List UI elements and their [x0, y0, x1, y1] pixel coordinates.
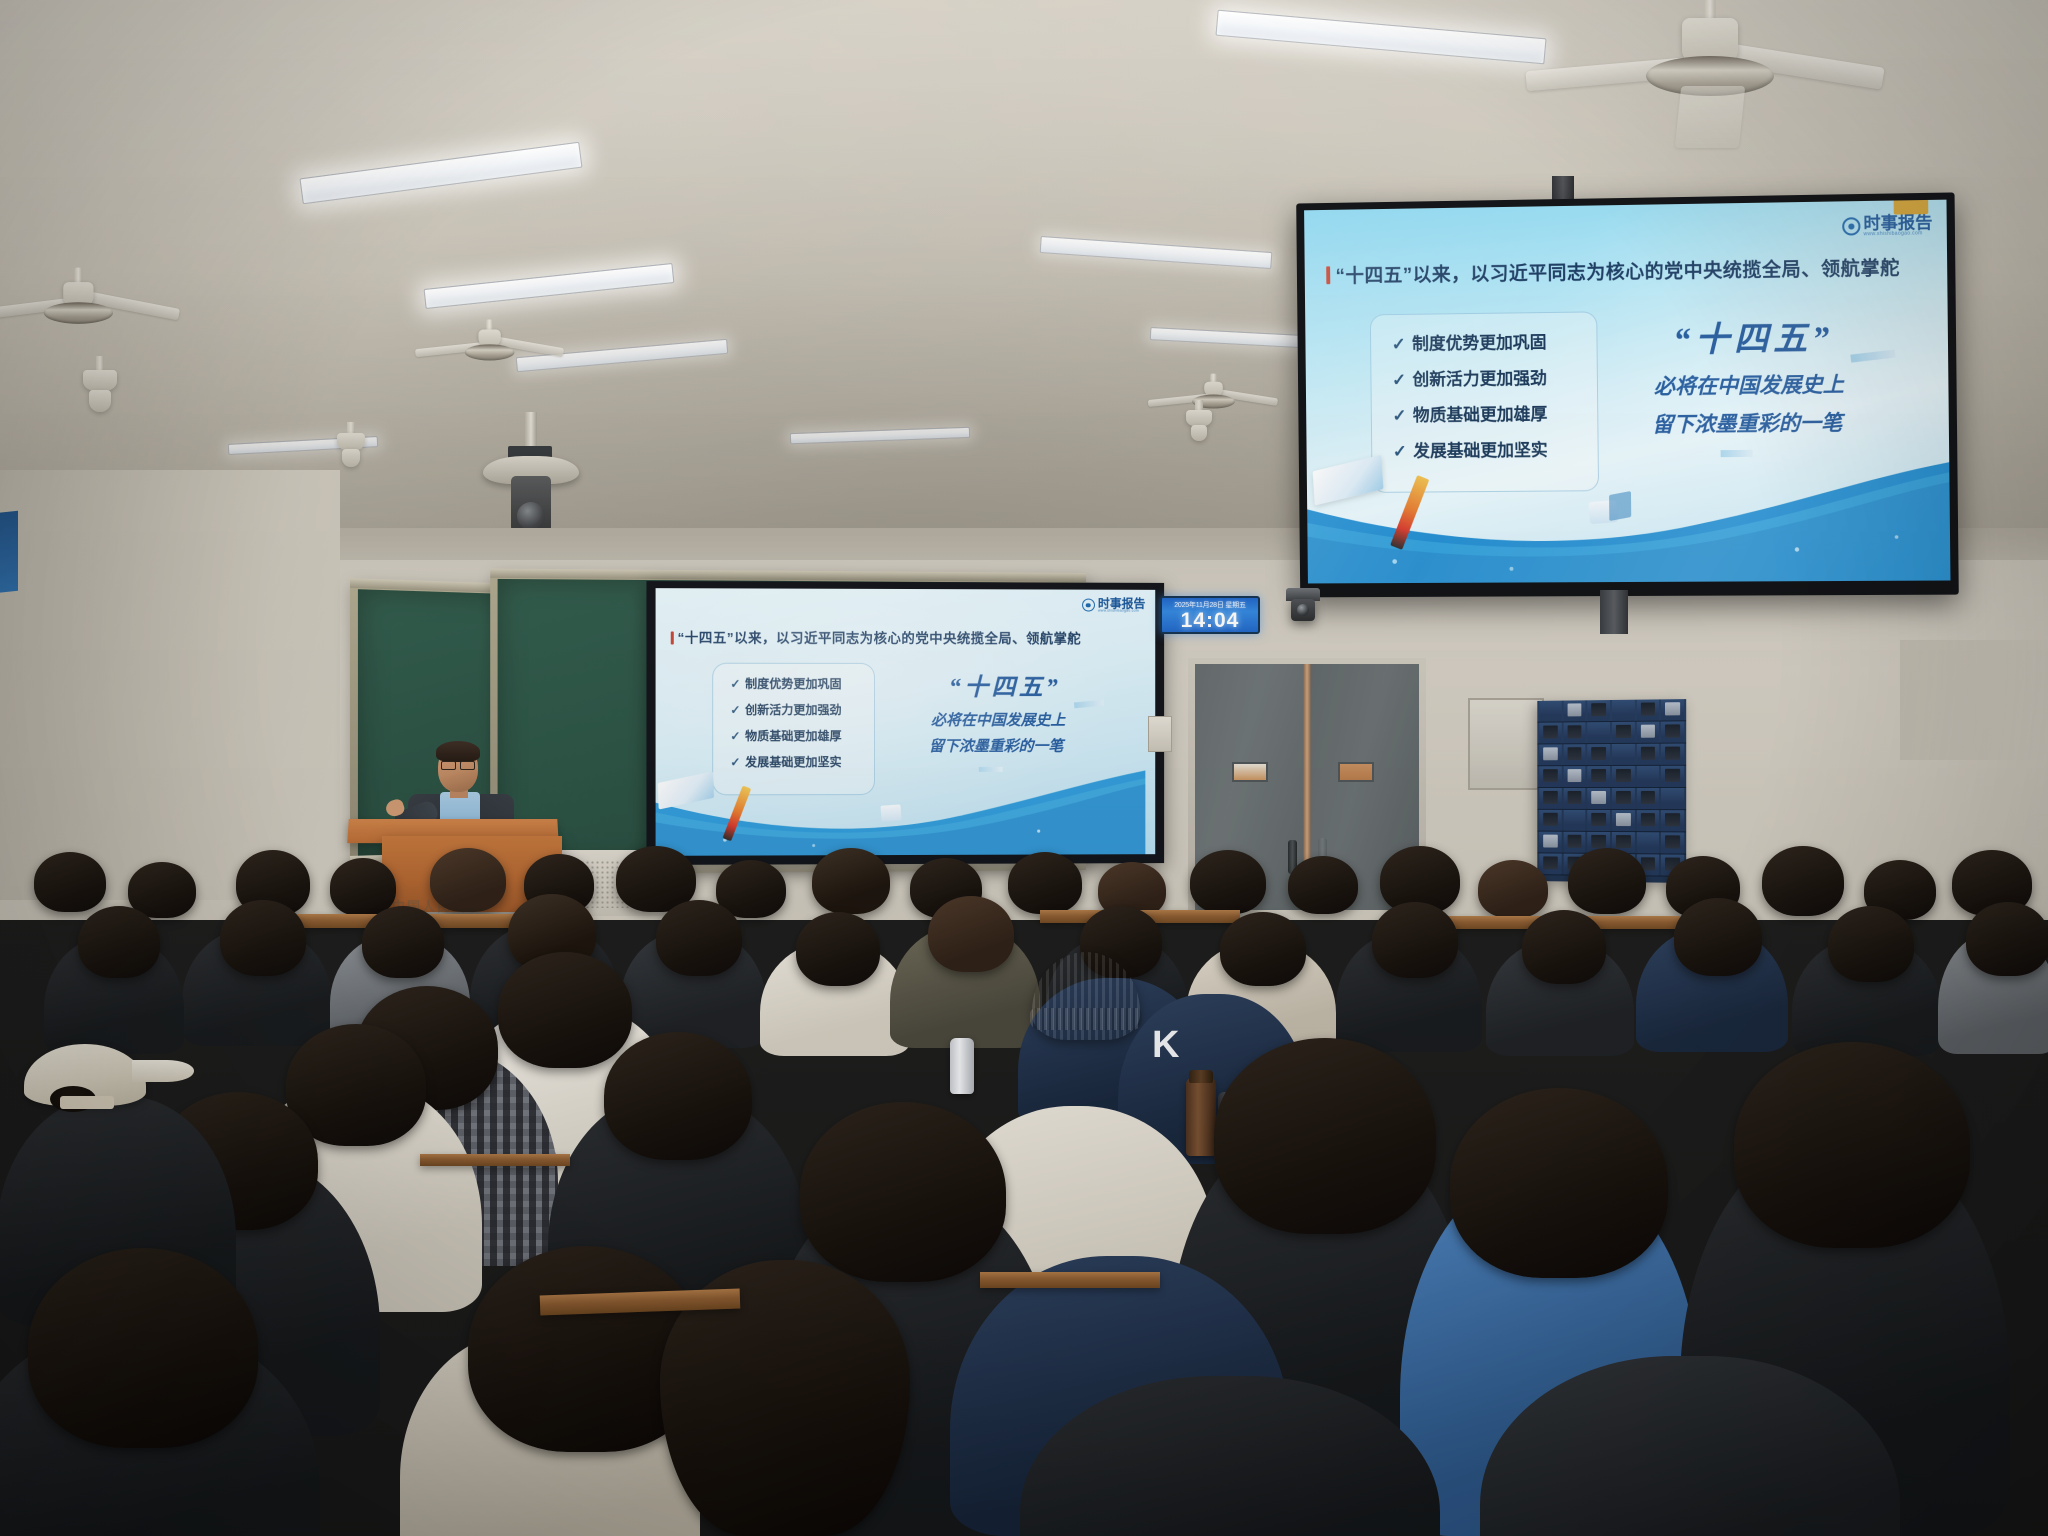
wall-vent-panel	[1900, 640, 2048, 760]
student-head	[1966, 902, 2048, 976]
student-head-large	[1450, 1088, 1668, 1278]
bullet-text: 创新活力更加强劲	[745, 703, 842, 717]
rack-row	[1537, 699, 1686, 723]
logo-flag-icon	[1894, 200, 1929, 215]
rack-pocket[interactable]	[1637, 832, 1660, 853]
rack-pocket[interactable]	[1539, 722, 1561, 743]
beanie-cuff	[1030, 1008, 1142, 1030]
rack-row	[1537, 788, 1686, 810]
slide-logo: 时事报告 www.shishibaogao.com	[1842, 214, 1933, 238]
rack-row	[1537, 721, 1686, 744]
student-head-large	[1734, 1042, 1970, 1248]
water-bottle	[950, 1038, 974, 1094]
bullet-text: 制度优势更加巩固	[745, 677, 842, 691]
projector-calligraphy-title: “十四五”	[949, 667, 1061, 702]
student-head	[604, 1032, 752, 1160]
student-head	[430, 848, 506, 912]
logo-eye-icon	[1082, 599, 1095, 612]
student-head	[220, 900, 306, 976]
rack-pocket[interactable]	[1612, 744, 1635, 765]
tv-calligraphy-line2: 留下浓墨重彩的一笔	[1652, 407, 1842, 439]
rack-pocket[interactable]	[1661, 832, 1684, 853]
rack-row	[1537, 810, 1686, 833]
rack-pocket[interactable]	[1637, 722, 1660, 743]
student-head	[78, 906, 160, 978]
rack-pocket[interactable]	[1539, 788, 1561, 809]
check-icon: ✓	[730, 729, 740, 743]
projector-bullet-item: ✓制度优势更加巩固	[730, 675, 841, 692]
bullet-text: 创新活力更加强劲	[1412, 369, 1547, 389]
tv-bullet-item: ✓物质基础更加雄厚	[1392, 400, 1547, 426]
rack-pocket[interactable]	[1588, 744, 1610, 765]
projection-screen-surface[interactable]: 时事报告 www.shishibaogao.com “十四五”以来，以习近平同志…	[656, 588, 1156, 856]
tv-bullet-item: ✓创新活力更加强劲	[1392, 364, 1547, 391]
rack-pocket[interactable]	[1637, 699, 1660, 720]
rack-pocket[interactable]	[1637, 744, 1660, 765]
jersey-letter-k: K	[1152, 1024, 1181, 1067]
rack-pocket[interactable]	[1588, 722, 1610, 743]
cap-adjuster-strap	[60, 1096, 114, 1109]
rack-pocket[interactable]	[1563, 700, 1585, 721]
cap-brim	[132, 1060, 194, 1082]
tv-calligraphy-line1: 必将在中国发展史上	[1654, 369, 1844, 401]
wall-whiteboard	[1468, 698, 1544, 790]
check-icon: ✓	[1392, 335, 1406, 354]
student-head	[1568, 848, 1646, 914]
rack-pocket[interactable]	[1637, 810, 1660, 831]
clock-date: 2025年11月28日 星期五	[1174, 600, 1246, 610]
student-head	[330, 858, 396, 916]
thermos-bottle	[1186, 1078, 1216, 1156]
rack-pocket[interactable]	[1612, 810, 1635, 831]
student-head-large	[800, 1102, 1006, 1282]
tv-calligraphy-title: “十四五”	[1673, 310, 1834, 361]
student-head	[1008, 852, 1082, 914]
logo-eye-icon	[1842, 217, 1860, 235]
tv-bullet-item: ✓制度优势更加巩固	[1392, 328, 1547, 355]
projector-calligraphy-line2: 留下浓墨重彩的一笔	[929, 735, 1063, 756]
digital-wall-clock: 2025年11月28日 星期五 14:04	[1160, 596, 1260, 634]
rack-pocket[interactable]	[1539, 810, 1561, 831]
ptz-camera	[1286, 588, 1320, 630]
student-head	[1288, 856, 1358, 914]
rack-pocket[interactable]	[1588, 700, 1610, 721]
student-head	[656, 900, 742, 976]
rack-pocket[interactable]	[1637, 788, 1660, 809]
student-head	[812, 848, 890, 914]
bullet-text: 物质基础更加雄厚	[1413, 405, 1548, 425]
bench-desk-front	[980, 1272, 1160, 1288]
student-head	[498, 952, 632, 1068]
thermos-cap	[1189, 1070, 1213, 1083]
audience: K ATE	[0, 856, 2048, 1536]
rack-pocket[interactable]	[1563, 766, 1585, 787]
projector-slide-headline: “十四五”以来，以习近平同志为核心的党中央统揽全局、领航掌舵	[671, 626, 1081, 647]
student-head	[796, 912, 880, 986]
tv-slide-headline: “十四五”以来，以习近平同志为核心的党中央统揽全局、领航掌舵	[1326, 253, 1900, 288]
eraser-icon	[880, 804, 901, 821]
headline-marker-icon	[671, 631, 674, 644]
rack-pocket[interactable]	[1612, 700, 1635, 721]
student-head	[1828, 906, 1914, 982]
wall-blue-panel	[0, 511, 18, 594]
rack-pocket[interactable]	[1661, 766, 1684, 787]
presenter-hair	[436, 741, 480, 762]
tv-screen[interactable]: 时事报告 www.shishibaogao.com “十四五”以来，以习近平同志…	[1304, 200, 1950, 584]
projector-bullet-item: ✓创新活力更加强劲	[730, 701, 841, 718]
glasses-icon	[441, 761, 475, 768]
projector-calligraphy-line1: 必将在中国发展史上	[931, 709, 1065, 730]
rack-pocket[interactable]	[1661, 699, 1684, 720]
headline-text: “十四五”以来，以习近平同志为核心的党中央统揽全局、领航掌舵	[1335, 258, 1900, 287]
rack-pocket[interactable]	[1661, 788, 1684, 809]
bullet-text: 制度优势更加巩固	[1412, 333, 1547, 354]
rack-pocket[interactable]	[1539, 766, 1561, 787]
slide-logo: 时事报告 www.shishibaogao.com	[1082, 598, 1145, 614]
student-head	[928, 896, 1014, 972]
bullet-text: 物质基础更加雄厚	[745, 729, 842, 743]
projection-screen[interactable]: 时事报告 www.shishibaogao.com “十四五”以来，以习近平同志…	[646, 581, 1164, 865]
rack-row	[1537, 766, 1686, 788]
tv-stand-neck	[1600, 590, 1628, 634]
rack-pocket[interactable]	[1588, 766, 1610, 787]
rack-pocket[interactable]	[1637, 766, 1660, 787]
student-head	[1762, 846, 1844, 916]
student-head	[1372, 902, 1458, 978]
check-icon: ✓	[1392, 370, 1406, 389]
student-head	[1674, 898, 1762, 976]
check-icon: ✓	[1392, 406, 1406, 425]
logo-url: www.shishibaogao.com	[1098, 610, 1145, 614]
rack-row	[1537, 744, 1686, 767]
rack-pocket[interactable]	[1539, 744, 1561, 765]
calligraphy-accent-bar	[1074, 700, 1104, 709]
rack-pocket[interactable]	[1539, 832, 1561, 853]
rack-pocket[interactable]	[1563, 722, 1585, 743]
check-icon: ✓	[730, 703, 740, 717]
student-head	[34, 852, 106, 912]
rack-pocket[interactable]	[1612, 766, 1635, 787]
headline-marker-icon	[1326, 267, 1330, 285]
ptz-lens-icon	[1297, 604, 1309, 616]
wall-tv[interactable]: 时事报告 www.shishibaogao.com “十四五”以来，以习近平同志…	[1296, 192, 1959, 597]
student-head-large	[28, 1248, 258, 1448]
projector-bullet-item: ✓物质基础更加雄厚	[730, 727, 841, 744]
rack-pocket[interactable]	[1588, 788, 1610, 809]
left-wall	[0, 470, 340, 900]
student-head	[1220, 912, 1306, 986]
rack-pocket[interactable]	[1661, 744, 1684, 765]
rack-pocket[interactable]	[1612, 788, 1635, 809]
rack-pocket[interactable]	[1612, 722, 1635, 743]
eraser-shadow	[1609, 491, 1631, 521]
rack-pocket[interactable]	[1563, 788, 1585, 809]
headline-text: “十四五”以来，以习近平同志为核心的党中央统揽全局、领航掌舵	[678, 630, 1082, 646]
rack-pocket[interactable]	[1563, 832, 1585, 853]
student-head-large	[1214, 1038, 1436, 1234]
logo-url: www.shishibaogao.com	[1864, 231, 1933, 237]
student-head	[362, 906, 444, 978]
check-icon: ✓	[730, 677, 740, 691]
rack-pocket[interactable]	[1563, 744, 1585, 765]
student-head	[1522, 910, 1606, 984]
clock-time: 14:04	[1181, 610, 1240, 631]
lecture-hall-photo: EPSON 时事报告 www.shishibaogao.com	[0, 0, 2048, 1536]
student-head	[1478, 860, 1548, 918]
rack-pocket[interactable]	[1588, 810, 1610, 831]
tv-slide: 时事报告 www.shishibaogao.com “十四五”以来，以习近平同志…	[1304, 200, 1950, 584]
rack-pocket[interactable]	[1563, 810, 1585, 831]
rack-pocket[interactable]	[1539, 701, 1561, 722]
rack-pocket[interactable]	[1661, 810, 1684, 831]
rack-pocket[interactable]	[1661, 721, 1684, 742]
door-room-plate	[1338, 762, 1374, 782]
calligraphy-accent-bar	[1850, 349, 1895, 362]
student-head	[1190, 850, 1266, 914]
projector-slide: 时事报告 www.shishibaogao.com “十四五”以来，以习近平同志…	[656, 588, 1156, 856]
door-notice-sign	[1232, 762, 1268, 782]
wall-switch-panel[interactable]	[1148, 716, 1172, 752]
bench-desk-front	[420, 1154, 570, 1166]
